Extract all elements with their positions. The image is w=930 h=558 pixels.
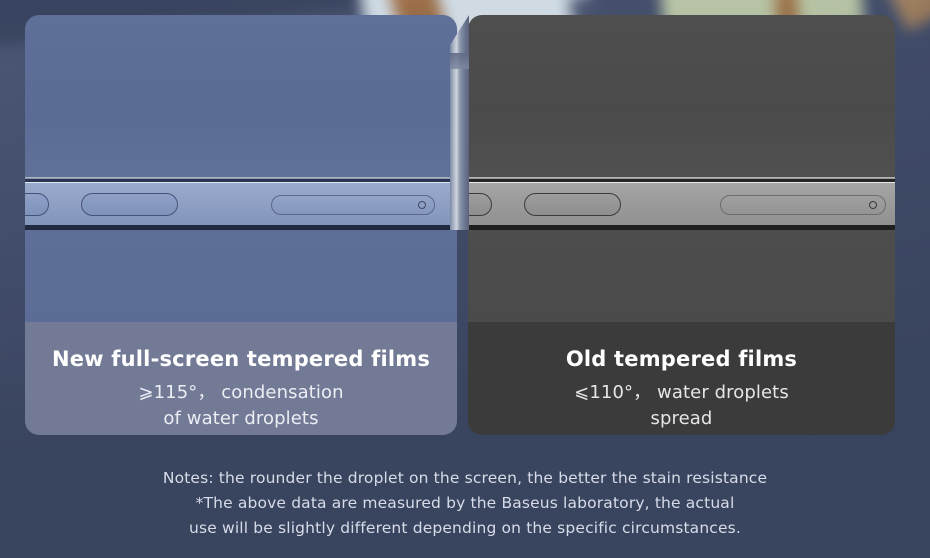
volume-button-lower-old <box>524 193 621 216</box>
caption-subtitle-line2-old: spread <box>468 406 895 432</box>
volume-button-lower <box>81 193 178 216</box>
volume-button-upper-old <box>468 193 492 216</box>
comparison-card-old-film: Old tempered films ⩽110°， water droplets… <box>468 15 895 435</box>
sim-eject-pinhole-icon <box>418 201 426 209</box>
phone-screen-surface <box>25 15 457 177</box>
footnote-line-3: use will be slightly different depending… <box>0 516 930 541</box>
photo-new-film <box>25 15 457 322</box>
caption-subtitle-line2: of water droplets <box>25 406 457 432</box>
caption-subtitle-line1: ⩾115°， condensation <box>25 380 457 406</box>
volume-button-upper <box>25 193 49 216</box>
caption-title-old-film: Old tempered films <box>468 347 895 371</box>
photo-old-film <box>468 15 895 322</box>
sim-tray-slot-old <box>720 195 886 215</box>
screen-edge-highlight <box>25 177 457 179</box>
sim-tray-slot <box>271 195 435 215</box>
screen-edge-highlight-old <box>468 177 895 179</box>
caption-subtitle-line1-old: ⩽110°， water droplets <box>468 380 895 406</box>
sim-eject-pinhole-icon-old <box>869 201 877 209</box>
phone-screen-surface-old <box>468 15 895 177</box>
caption-subtitle-new-film: ⩾115°， condensation of water droplets <box>25 380 457 431</box>
phone-metal-edge-sliver <box>450 15 469 230</box>
phone-body-lower <box>25 230 457 322</box>
caption-old-film: Old tempered films ⩽110°， water droplets… <box>468 322 895 435</box>
footnote-line-1: Notes: the rounder the droplet on the sc… <box>0 466 930 491</box>
caption-subtitle-old-film: ⩽110°， water droplets spread <box>468 380 895 431</box>
caption-title-new-film: New full-screen tempered films <box>25 347 457 371</box>
phone-body-lower-old <box>468 230 895 322</box>
caption-new-film: New full-screen tempered films ⩾115°， co… <box>25 322 457 435</box>
comparison-card-new-film: New full-screen tempered films ⩾115°， co… <box>25 15 457 435</box>
footnotes: Notes: the rounder the droplet on the sc… <box>0 466 930 541</box>
footnote-line-2: *The above data are measured by the Base… <box>0 491 930 516</box>
comparison-cards: New full-screen tempered films ⩾115°， co… <box>0 0 930 440</box>
metal-edge-band <box>450 53 469 69</box>
